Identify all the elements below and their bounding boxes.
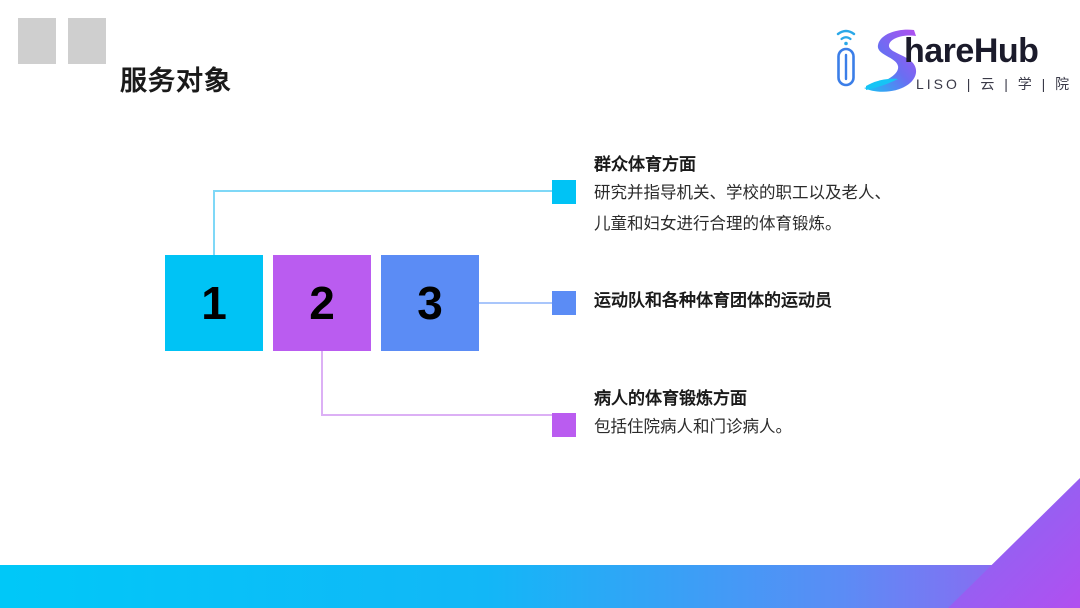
slide-canvas: 服务对象 hareHub LISO | 云 | 学 | 院: [0, 0, 1080, 608]
bullet-text-3: 病人的体育锻炼方面 包括住院病人和门诊病人。: [594, 386, 792, 443]
bullet-text-1: 群众体育方面 研究并指导机关、学校的职工以及老人、 儿童和妇女进行合理的体育锻炼…: [594, 152, 891, 240]
number-box-3[interactable]: 3: [381, 255, 479, 351]
bullet-body-1-line1: 研究并指导机关、学校的职工以及老人、: [594, 178, 891, 209]
connector-line-item3-horizontal: [321, 414, 554, 416]
bullet-heading-3: 病人的体育锻炼方面: [594, 386, 792, 412]
connector-line-item2-horizontal: [479, 302, 554, 304]
page-title: 服务对象: [120, 59, 232, 98]
quote-notch-left: [18, 64, 56, 102]
footer-gradient-band: [0, 565, 1080, 608]
bullet-text-2: 运动队和各种体育团体的运动员: [594, 288, 832, 314]
bullet-body-1-line2: 儿童和妇女进行合理的体育锻炼。: [594, 209, 891, 240]
logo-wordmark: hareHub: [904, 32, 1038, 71]
quotation-mark-icon: [18, 18, 114, 102]
connector-line-item1-vertical: [213, 190, 215, 256]
quote-notch-right: [68, 64, 106, 102]
bullet-marker-1: [552, 180, 576, 204]
bullet-heading-1: 群众体育方面: [594, 152, 891, 178]
number-box-1[interactable]: 1: [165, 255, 263, 351]
brand-logo: hareHub LISO | 云 | 学 | 院: [830, 26, 1058, 104]
connector-line-item1-horizontal: [213, 190, 554, 192]
bullet-marker-2: [552, 291, 576, 315]
number-box-2[interactable]: 2: [273, 255, 371, 351]
connector-line-item3-vertical: [321, 351, 323, 416]
bullet-heading-2: 运动队和各种体育团体的运动员: [594, 288, 832, 314]
bullet-marker-3: [552, 413, 576, 437]
logo-subtitle: LISO | 云 | 学 | 院: [916, 74, 1072, 94]
bullet-body-3-line1: 包括住院病人和门诊病人。: [594, 412, 792, 443]
